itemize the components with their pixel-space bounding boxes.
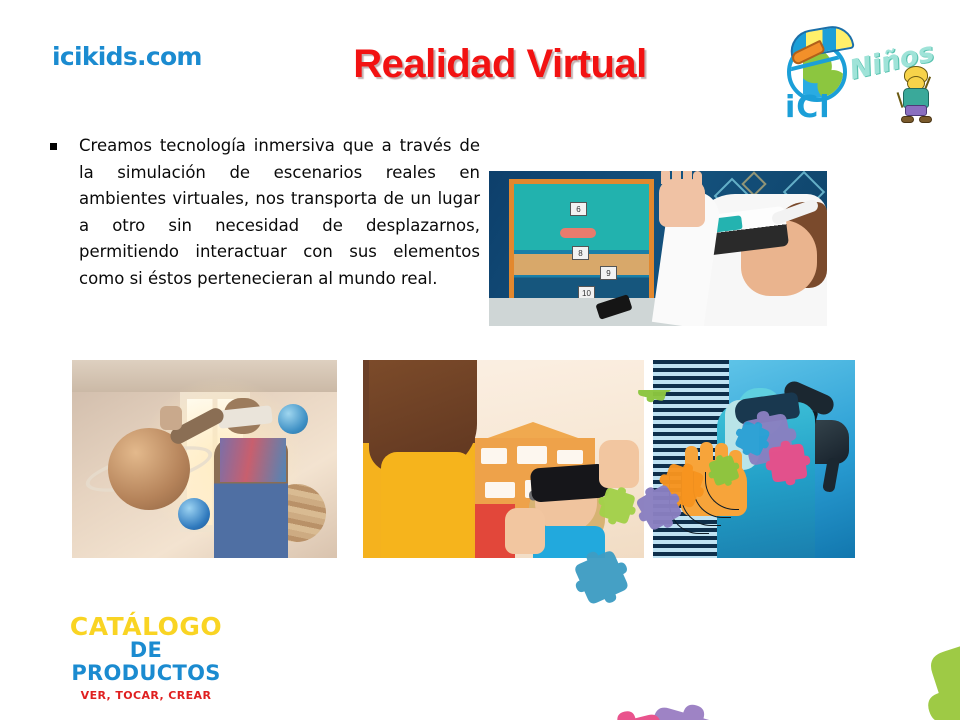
- brand-logo: icikids.com: [52, 42, 202, 71]
- page-title: Realidad Virtual: [300, 42, 700, 87]
- catalog-line-1: CATÁLOGO: [58, 614, 234, 639]
- photo-vr-planets: [72, 360, 337, 558]
- photo-vr-girls: [363, 360, 644, 558]
- cartoon-kid-icon: [895, 66, 941, 126]
- photo-vr-dino: [653, 360, 855, 558]
- body-paragraph: Creamos tecnología inmersiva que a travé…: [79, 133, 480, 292]
- ici-ninos-logo: iCi Niños: [775, 22, 955, 127]
- catalog-line-3: VER, TOCAR, CREAR: [58, 689, 234, 702]
- bullet-marker: [50, 143, 57, 150]
- slide-canvas: icikids.com Realidad Virtual iCi Niños C…: [0, 0, 960, 720]
- catalog-line-2: DE PRODUCTOS: [58, 639, 234, 685]
- catalog-logo: CATÁLOGO DE PRODUCTOS VER, TOCAR, CREAR: [58, 614, 234, 702]
- ici-wordmark: iCi: [785, 90, 831, 125]
- body-copy: Creamos tecnología inmersiva que a travé…: [50, 133, 480, 292]
- photo-vr-classroom: 6 8 9 10: [489, 171, 827, 326]
- cap-icon: [787, 23, 855, 60]
